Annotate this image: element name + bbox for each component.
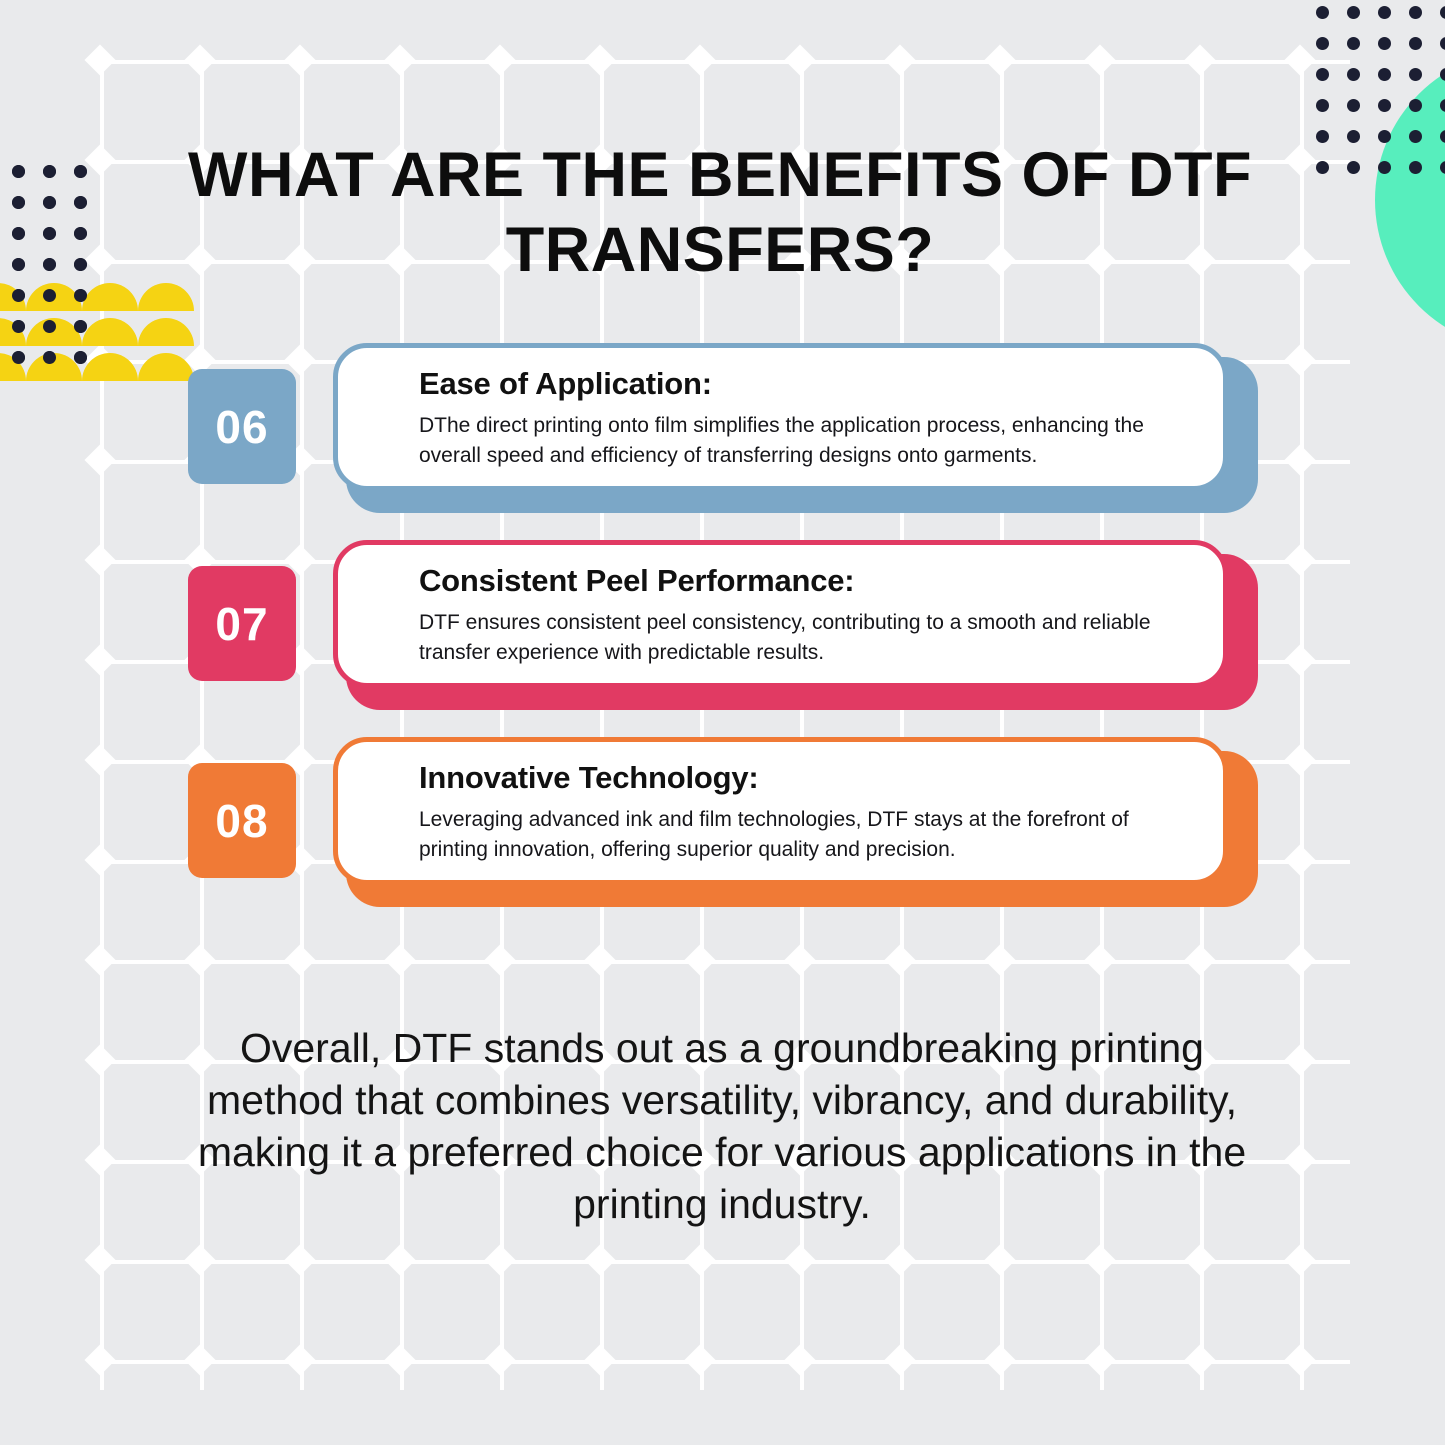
grid-diamond-icon bbox=[684, 944, 715, 975]
dot-icon bbox=[1347, 99, 1360, 112]
grid-diamond-icon bbox=[684, 1244, 715, 1275]
grid-diamond-icon bbox=[484, 44, 515, 75]
grid-diamond-icon bbox=[884, 44, 915, 75]
card-body-text: DTF ensures consistent peel consistency,… bbox=[419, 608, 1197, 668]
grid-diamond-icon bbox=[184, 44, 215, 75]
dot-icon bbox=[1440, 6, 1445, 19]
dot-icon bbox=[74, 196, 87, 209]
yellow-semicircle-icon bbox=[26, 318, 82, 346]
yellow-semicircle-icon bbox=[82, 283, 138, 311]
grid-diamond-icon bbox=[84, 444, 115, 475]
card-body-text: Leveraging advanced ink and film technol… bbox=[419, 805, 1197, 865]
dot-icon bbox=[1409, 37, 1422, 50]
benefit-row-06: 06 Ease of Application: DThe direct prin… bbox=[188, 343, 1258, 513]
dot-icon bbox=[12, 165, 25, 178]
grid-diamond-icon bbox=[1084, 44, 1115, 75]
grid-diamond-icon bbox=[684, 1344, 715, 1375]
grid-diamond-icon bbox=[184, 1244, 215, 1275]
grid-diamond-icon bbox=[1284, 644, 1315, 675]
grid-diamond-icon bbox=[184, 944, 215, 975]
dot-icon bbox=[1378, 68, 1391, 81]
dot-icon bbox=[74, 258, 87, 271]
dot-icon bbox=[1316, 6, 1329, 19]
badge-number-07: 07 bbox=[188, 566, 296, 681]
dot-icon bbox=[1378, 6, 1391, 19]
yellow-semicircle-icon bbox=[0, 318, 26, 346]
benefit-card-06[interactable]: Ease of Application: DThe direct printin… bbox=[333, 343, 1258, 513]
dot-icon bbox=[1409, 6, 1422, 19]
dot-icon bbox=[1316, 130, 1329, 143]
card-body-text: DThe direct printing onto film simplifie… bbox=[419, 411, 1197, 471]
dot-icon bbox=[12, 258, 25, 271]
yellow-semicircle-icon bbox=[26, 283, 82, 311]
badge-number-06: 06 bbox=[188, 369, 296, 484]
grid-diamond-icon bbox=[284, 44, 315, 75]
grid-diamond-icon bbox=[484, 944, 515, 975]
grid-diamond-icon bbox=[384, 1244, 415, 1275]
infographic-canvas: WHAT ARE THE BENEFITS OF DTF TRANSFERS? … bbox=[0, 0, 1445, 1445]
benefit-row-07: 07 Consistent Peel Performance: DTF ensu… bbox=[188, 540, 1258, 710]
grid-diamond-icon bbox=[1184, 44, 1215, 75]
grid-diamond-icon bbox=[984, 1344, 1015, 1375]
yellow-semicircle-icon bbox=[138, 318, 194, 346]
dot-icon bbox=[74, 196, 87, 209]
dot-icon bbox=[74, 165, 87, 178]
grid-diamond-icon bbox=[1084, 944, 1115, 975]
dot-icon bbox=[43, 227, 56, 240]
grid-diamond-icon bbox=[184, 1344, 215, 1375]
grid-diamond-icon bbox=[1284, 744, 1315, 775]
dot-icon bbox=[74, 227, 87, 240]
dot-icon bbox=[1316, 99, 1329, 112]
dot-icon bbox=[1347, 130, 1360, 143]
card-heading: Consistent Peel Performance: bbox=[419, 561, 1197, 601]
yellow-semicircle-icon bbox=[0, 283, 26, 311]
grid-diamond-icon bbox=[584, 44, 615, 75]
grid-diamond-icon bbox=[884, 1244, 915, 1275]
grid-diamond-icon bbox=[84, 244, 115, 275]
grid-diamond-icon bbox=[1284, 1344, 1315, 1375]
badge-number-08: 08 bbox=[188, 763, 296, 878]
yellow-semicircle-decoration bbox=[0, 283, 155, 388]
grid-diamond-icon bbox=[84, 1144, 115, 1175]
grid-diamond-icon bbox=[584, 1344, 615, 1375]
page-title: WHAT ARE THE BENEFITS OF DTF TRANSFERS? bbox=[140, 138, 1300, 288]
grid-diamond-icon bbox=[384, 1344, 415, 1375]
dot-icon bbox=[43, 196, 56, 209]
grid-diamond-icon bbox=[84, 1344, 115, 1375]
grid-diamond-icon bbox=[1284, 844, 1315, 875]
grid-diamond-icon bbox=[884, 944, 915, 975]
dot-icon bbox=[43, 258, 56, 271]
grid-diamond-icon bbox=[1284, 444, 1315, 475]
grid-diamond-icon bbox=[584, 1244, 615, 1275]
grid-diamond-icon bbox=[1284, 1044, 1315, 1075]
grid-diamond-icon bbox=[84, 744, 115, 775]
grid-diamond-icon bbox=[84, 944, 115, 975]
grid-diamond-icon bbox=[884, 1344, 915, 1375]
yellow-semicircle-icon bbox=[0, 353, 26, 381]
dot-icon bbox=[74, 258, 87, 271]
dot-icon bbox=[12, 227, 25, 240]
teal-circle-decoration bbox=[1375, 50, 1445, 350]
grid-diamond-icon bbox=[984, 1244, 1015, 1275]
grid-diamond-icon bbox=[1284, 344, 1315, 375]
grid-diamond-icon bbox=[484, 1344, 515, 1375]
grid-diamond-icon bbox=[784, 944, 815, 975]
closing-paragraph: Overall, DTF stands out as a groundbreak… bbox=[172, 1022, 1272, 1230]
grid-diamond-icon bbox=[1284, 1144, 1315, 1175]
dot-icon bbox=[1347, 37, 1360, 50]
dot-icon bbox=[1316, 161, 1329, 174]
dot-icon bbox=[74, 227, 87, 240]
grid-diamond-icon bbox=[1184, 1344, 1215, 1375]
dot-icon bbox=[1378, 99, 1391, 112]
grid-diamond-icon bbox=[784, 1344, 815, 1375]
card-heading: Innovative Technology: bbox=[419, 758, 1197, 798]
dot-icon bbox=[43, 196, 56, 209]
dot-icon bbox=[1440, 37, 1445, 50]
grid-diamond-icon bbox=[1184, 1244, 1215, 1275]
dot-icon bbox=[1409, 68, 1422, 81]
yellow-semicircle-icon bbox=[26, 353, 82, 381]
grid-diamond-icon bbox=[84, 44, 115, 75]
grid-diamond-icon bbox=[1284, 544, 1315, 575]
grid-diamond-icon bbox=[684, 44, 715, 75]
dot-icon bbox=[74, 165, 87, 178]
card-face: Ease of Application: DThe direct printin… bbox=[333, 343, 1228, 491]
dot-icon bbox=[12, 227, 25, 240]
dot-icon bbox=[12, 165, 25, 178]
grid-diamond-icon bbox=[784, 44, 815, 75]
grid-diamond-icon bbox=[1284, 944, 1315, 975]
grid-diamond-icon bbox=[284, 1244, 315, 1275]
grid-diamond-icon bbox=[84, 144, 115, 175]
grid-diamond-icon bbox=[84, 1244, 115, 1275]
yellow-semicircle-icon bbox=[82, 318, 138, 346]
grid-diamond-icon bbox=[1284, 44, 1315, 75]
grid-diamond-icon bbox=[1184, 944, 1215, 975]
dot-icon bbox=[1316, 37, 1329, 50]
grid-diamond-icon bbox=[484, 1244, 515, 1275]
grid-diamond-icon bbox=[984, 944, 1015, 975]
dot-icon bbox=[12, 196, 25, 209]
grid-diamond-icon bbox=[1284, 1244, 1315, 1275]
dot-icon bbox=[1347, 161, 1360, 174]
card-face: Innovative Technology: Leveraging advanc… bbox=[333, 737, 1228, 885]
grid-diamond-icon bbox=[1084, 1244, 1115, 1275]
benefit-card-07[interactable]: Consistent Peel Performance: DTF ensures… bbox=[333, 540, 1258, 710]
benefit-row-08: 08 Innovative Technology: Leveraging adv… bbox=[188, 737, 1258, 907]
dot-icon bbox=[1378, 37, 1391, 50]
grid-diamond-icon bbox=[1084, 1344, 1115, 1375]
yellow-semicircle-icon bbox=[138, 353, 194, 381]
grid-diamond-icon bbox=[984, 44, 1015, 75]
dot-icon bbox=[43, 258, 56, 271]
card-heading: Ease of Application: bbox=[419, 364, 1197, 404]
dot-icon bbox=[43, 165, 56, 178]
grid-diamond-icon bbox=[84, 844, 115, 875]
grid-diamond-icon bbox=[84, 1044, 115, 1075]
grid-diamond-icon bbox=[284, 1344, 315, 1375]
grid-diamond-icon bbox=[84, 544, 115, 575]
grid-diamond-icon bbox=[584, 944, 615, 975]
dot-icon bbox=[1347, 68, 1360, 81]
dot-icon bbox=[43, 165, 56, 178]
dot-icon bbox=[1347, 6, 1360, 19]
grid-diamond-icon bbox=[84, 644, 115, 675]
dot-icon bbox=[12, 258, 25, 271]
yellow-semicircle-icon bbox=[82, 353, 138, 381]
grid-diamond-icon bbox=[384, 944, 415, 975]
grid-diamond-icon bbox=[284, 944, 315, 975]
benefit-card-08[interactable]: Innovative Technology: Leveraging advanc… bbox=[333, 737, 1258, 907]
card-face: Consistent Peel Performance: DTF ensures… bbox=[333, 540, 1228, 688]
grid-diamond-icon bbox=[384, 44, 415, 75]
dot-icon bbox=[1316, 68, 1329, 81]
dot-icon bbox=[12, 196, 25, 209]
dot-icon bbox=[43, 227, 56, 240]
grid-diamond-icon bbox=[784, 1244, 815, 1275]
